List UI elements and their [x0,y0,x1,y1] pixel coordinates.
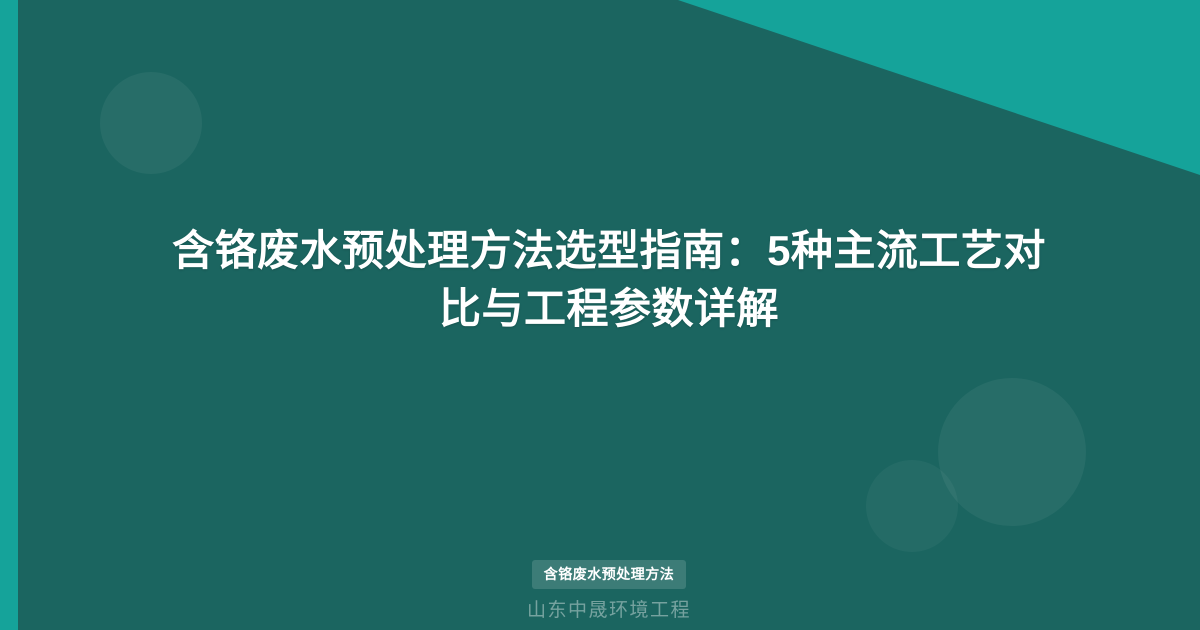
topic-tag: 含铬废水预处理方法 [532,560,687,589]
title-container: 含铬废水预处理方法选型指南：5种主流工艺对比与工程参数详解 [18,0,1200,630]
cover-card: 含铬废水预处理方法选型指南：5种主流工艺对比与工程参数详解 含铬废水预处理方法 … [0,0,1200,630]
left-accent-strip [0,0,18,630]
brand-name: 山东中晟环境工程 [527,595,691,622]
page-title: 含铬废水预处理方法选型指南：5种主流工艺对比与工程参数详解 [159,222,1059,338]
footer: 含铬废水预处理方法 山东中晟环境工程 [18,560,1200,622]
